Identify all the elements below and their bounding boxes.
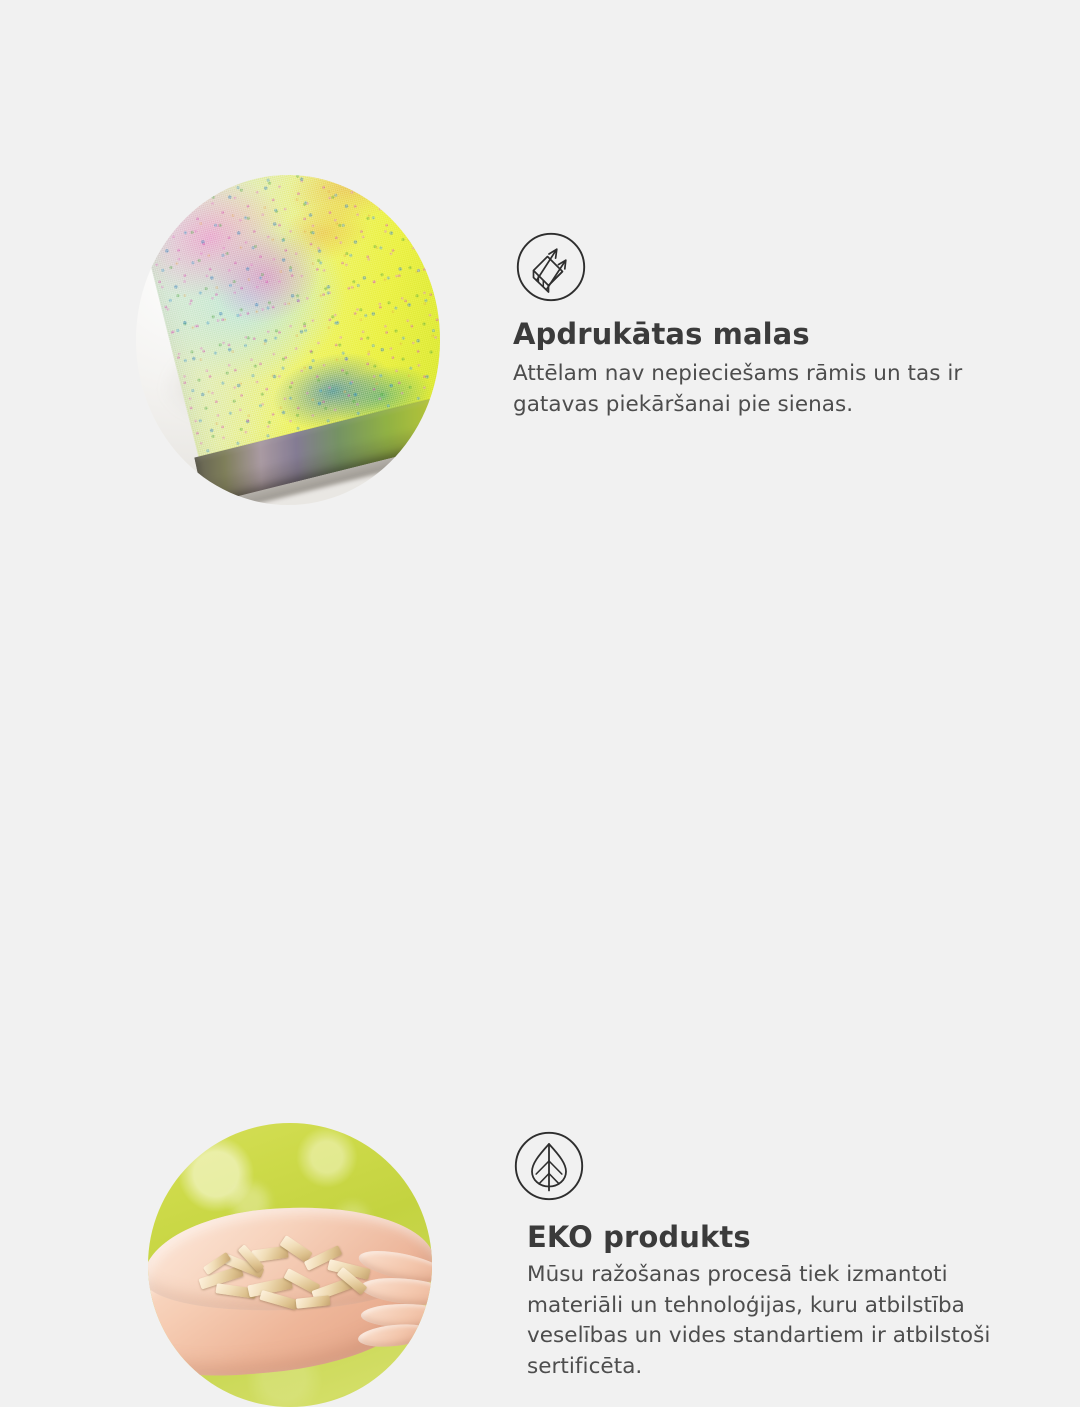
printed-edges-icon xyxy=(516,232,586,302)
leaf-icon xyxy=(514,1131,584,1201)
eco-text-block: EKO produkts Mūsu ražošanas procesā tiek… xyxy=(527,1221,1027,1382)
canvas-corner-photo xyxy=(136,175,440,505)
feature-block-printed-edges: Apdrukātas malas Attēlam nav nepieciešam… xyxy=(0,0,1080,540)
feature-block-eco: EKO produkts Mūsu ražošanas procesā tiek… xyxy=(0,540,1080,1080)
wood-chip-pile xyxy=(191,1238,392,1320)
feature-title: Apdrukātas malas xyxy=(513,318,1013,351)
wood-chip xyxy=(295,1295,330,1308)
cupped-hands xyxy=(148,1208,432,1373)
wood-chips-photo xyxy=(148,1123,432,1407)
feature-title: EKO produkts xyxy=(527,1221,1027,1254)
feature-description: Attēlam nav nepieciešams rāmis un tas ir… xyxy=(513,359,1013,420)
feature-description: Mūsu ražošanas procesā tiek izmantoti ma… xyxy=(527,1260,1027,1382)
product-features-page: Apdrukātas malas Attēlam nav nepieciešam… xyxy=(0,0,1080,1080)
printed-edges-text-block: Apdrukātas malas Attēlam nav nepieciešam… xyxy=(513,318,1013,420)
wood-chip xyxy=(259,1290,298,1310)
